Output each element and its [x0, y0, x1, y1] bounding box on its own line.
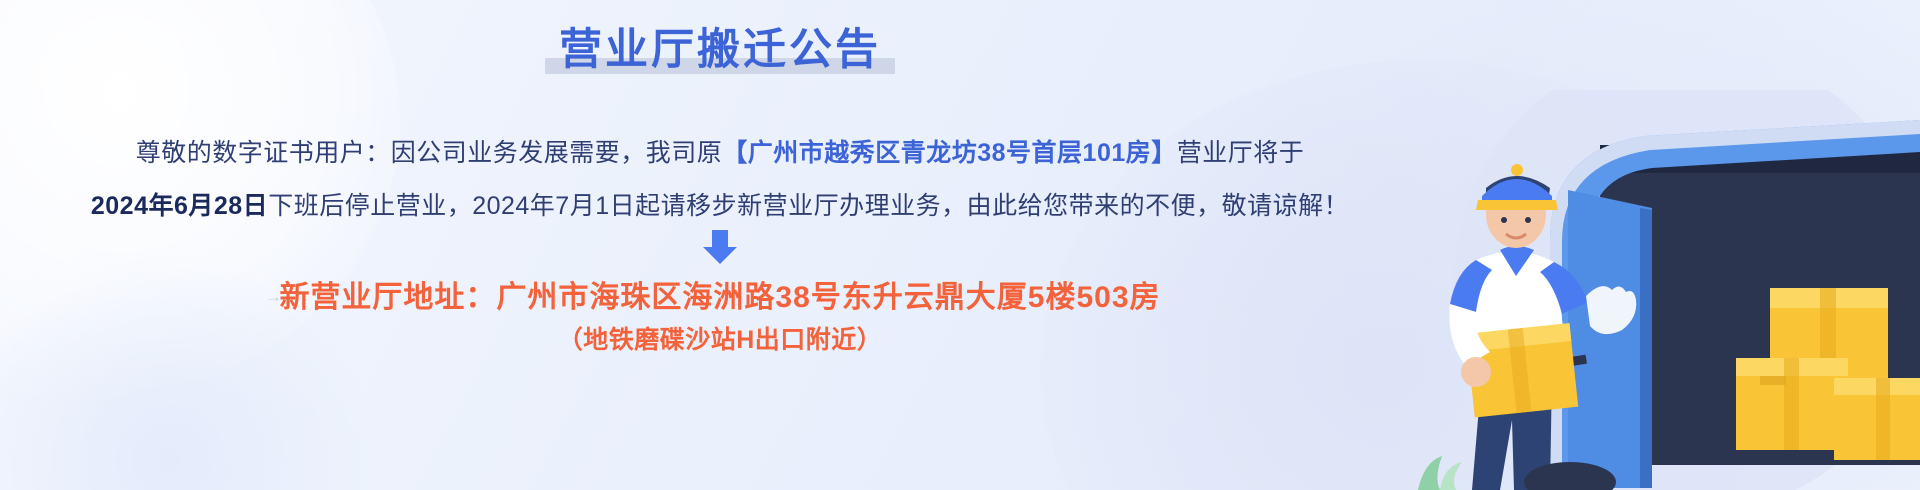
arrow-down-icon — [697, 228, 743, 266]
down-arrow-container — [0, 228, 1440, 271]
page-title-container: 营业厅搬迁公告 — [0, 26, 1440, 76]
person-right-eye — [1525, 217, 1531, 223]
moving-truck-illustration — [1300, 90, 1920, 490]
paragraph2-middle: 下班后停止营业，2024年7月1日起请移步新营业厅办理业务，由此给您带来的不便，… — [268, 192, 1349, 220]
person-cap-brim — [1476, 200, 1558, 210]
new-address-metro-note: （地铁磨碟沙站H出口附近） — [0, 320, 1440, 356]
old-address-highlight: 【广州市越秀区青龙坊38号首层101房】 — [722, 139, 1177, 167]
truck-door-edge — [1640, 208, 1652, 488]
page-title: 营业厅搬迁公告 — [553, 26, 887, 76]
paragraph1-after: 营业厅将于 — [1177, 139, 1305, 167]
announcement-content: 营业厅搬迁公告 尊敬的数字证书用户：因公司业务发展需要，我司原【广州市越秀区青龙… — [0, 0, 1440, 490]
close-date-text: 2024年6月28日 — [91, 192, 268, 220]
paragraph1-before: 尊敬的数字证书用户：因公司业务发展需要，我司原 — [136, 139, 723, 167]
decorative-plant — [1418, 456, 1462, 490]
paragraph-line-1: 尊敬的数字证书用户：因公司业务发展需要，我司原【广州市越秀区青龙坊38号首层10… — [0, 137, 1440, 171]
person-left-eye — [1501, 217, 1507, 223]
truck-open-door — [1568, 190, 1652, 488]
announcement-banner: 营业厅搬迁公告 尊敬的数字证书用户：因公司业务发展需要，我司原【广州市越秀区青龙… — [0, 0, 1920, 490]
person-left-hand — [1461, 357, 1491, 387]
paragraph-line-2: 2024年6月28日下班后停止营业，2024年7月1日起请移步新营业厅办理业务，… — [0, 190, 1440, 224]
page-title-text: 营业厅搬迁公告 — [559, 26, 881, 74]
new-address-line: 新营业厅地址：广州市海珠区海洲路38号东升云鼎大厦5楼503房 — [0, 272, 1440, 316]
person-cap-button — [1511, 164, 1523, 176]
